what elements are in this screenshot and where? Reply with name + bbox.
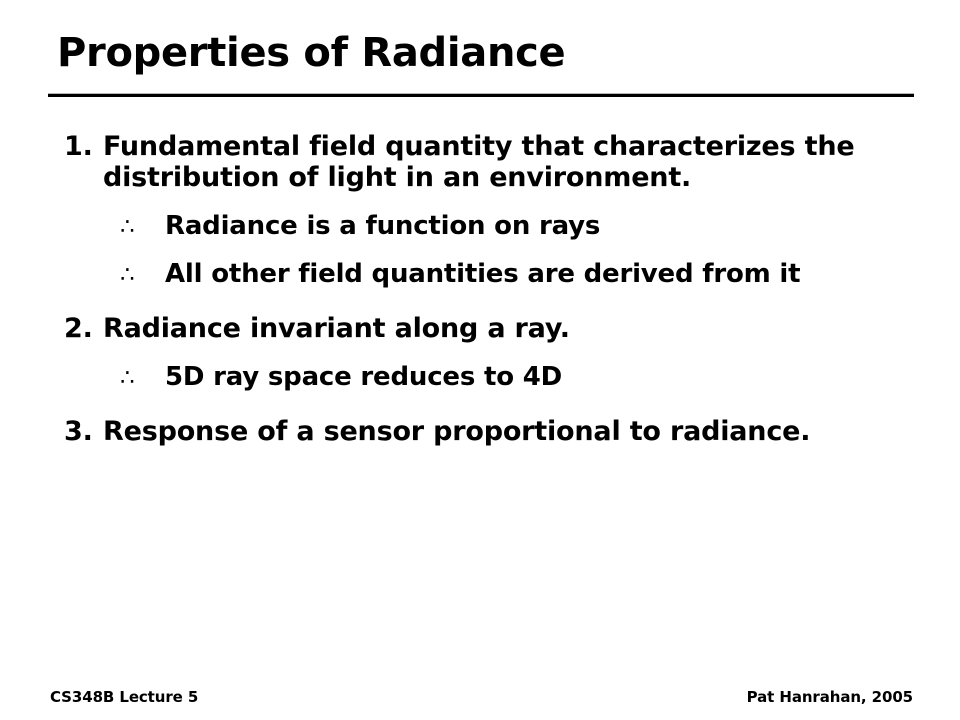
sub-list-item: ∴ All other field quantities are derived…: [0, 259, 960, 289]
list-item-text: Response of a sensor proportional to rad…: [103, 416, 810, 447]
list-item: 3. Response of a sensor proportional to …: [0, 416, 960, 447]
list-item-marker: 1.: [64, 131, 98, 162]
sub-list-item-text: 5D ray space reduces to 4D: [165, 362, 562, 392]
sub-list-item: ∴ 5D ray space reduces to 4D: [0, 362, 960, 392]
list-item: 1. Fundamental field quantity that chara…: [0, 131, 960, 193]
sub-list-item: ∴ Radiance is a function on rays: [0, 211, 960, 241]
footer-left-text: CS348B Lecture 5: [50, 688, 198, 706]
page-title: Properties of Radiance: [57, 30, 917, 76]
list-item: 2. Radiance invariant along a ray.: [0, 313, 960, 344]
list-item-text: Radiance invariant along a ray.: [103, 313, 570, 344]
sub-list-item-text: Radiance is a function on rays: [165, 211, 600, 241]
therefore-icon: ∴: [120, 260, 134, 290]
list-item-marker: 3.: [64, 416, 98, 447]
footer-right-text: Pat Hanrahan, 2005: [747, 688, 913, 706]
slide: Properties of Radiance 1. Fundamental fi…: [0, 0, 960, 720]
bullet-list: 1. Fundamental field quantity that chara…: [0, 131, 960, 459]
therefore-icon: ∴: [120, 363, 134, 393]
slide-footer: CS348B Lecture 5 Pat Hanrahan, 2005: [50, 688, 913, 706]
sub-list-item-text: All other field quantities are derived f…: [165, 259, 800, 289]
title-divider: [48, 93, 914, 97]
therefore-icon: ∴: [120, 212, 134, 242]
list-item-marker: 2.: [64, 313, 98, 344]
list-item-text: Fundamental field quantity that characte…: [103, 131, 854, 193]
